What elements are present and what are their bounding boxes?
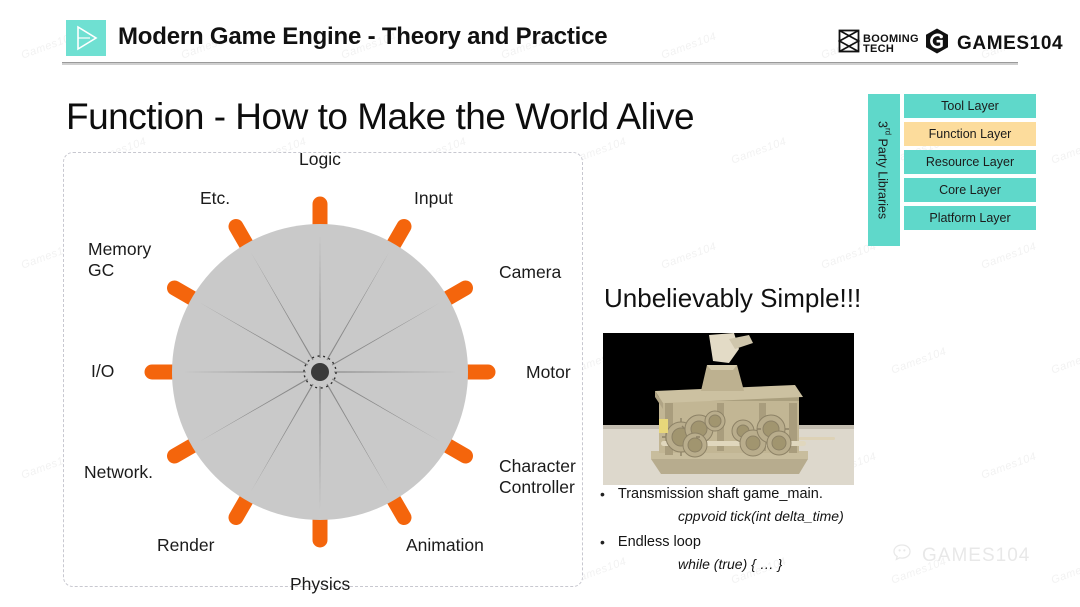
stack-side-label-sup: rd: [884, 128, 893, 135]
layer-resource-layer[interactable]: Resource Layer: [904, 150, 1036, 174]
booming-tech-logo: BOOMING TECH: [838, 29, 919, 58]
layer-label: Core Layer: [939, 183, 1001, 197]
background-watermark: Games104: [1050, 135, 1080, 166]
slide-title: Function - How to Make the World Alive: [66, 96, 694, 138]
cardboard-gear-machine-photo: [603, 333, 854, 485]
wheel-label-character-controller[interactable]: Character Controller: [499, 456, 576, 497]
layer-label: Resource Layer: [926, 155, 1014, 169]
layer-tool-layer[interactable]: Tool Layer: [904, 94, 1036, 118]
right-heading: Unbelievably Simple!!!: [604, 283, 861, 314]
architecture-layer-stack: 3rd Party Libraries Tool LayerFunction L…: [868, 94, 1036, 246]
background-watermark: Games104: [1050, 555, 1080, 586]
booming-label-line1: BOOMING: [863, 34, 919, 44]
layer-platform-layer[interactable]: Platform Layer: [904, 206, 1036, 230]
background-watermark: Games104: [980, 450, 1038, 481]
slide-header: Modern Game Engine - Theory and Practice…: [0, 0, 1080, 62]
stack-side-label-num: 3: [875, 121, 889, 128]
bullet-dot-icon: •: [600, 484, 605, 505]
list-item: •Endless loop: [600, 532, 930, 553]
background-watermark: Games104: [660, 240, 718, 271]
layer-function-layer[interactable]: Function Layer: [904, 122, 1036, 146]
wheel-label-memory-gc[interactable]: Memory GC: [88, 239, 151, 280]
games104-hex-g-icon: [925, 28, 949, 59]
bullet-list: •Transmission shaft game_main.cppvoid ti…: [600, 484, 930, 580]
booming-b-icon: [838, 29, 860, 58]
layer-core-layer[interactable]: Core Layer: [904, 178, 1036, 202]
function-wheel-panel: LogicInputCameraMotorCharacter Controlle…: [63, 152, 583, 587]
booming-label-line2: TECH: [863, 44, 919, 54]
games104-logo: GAMES104: [925, 28, 1063, 59]
play-triangle-icon: [66, 20, 106, 56]
third-party-libraries-bar: 3rd Party Libraries: [868, 94, 900, 246]
wechat-face-icon: [893, 543, 915, 568]
wheel-label-i-o[interactable]: I/O: [91, 361, 114, 382]
header-divider: [62, 62, 1018, 65]
function-wheel-diagram: LogicInputCameraMotorCharacter Controlle…: [64, 153, 582, 586]
wheel-label-motor[interactable]: Motor: [526, 362, 571, 383]
layer-label: Function Layer: [929, 127, 1012, 141]
wheel-label-input[interactable]: Input: [414, 188, 453, 209]
wheel-hub: [311, 363, 329, 381]
code-snippet: cppvoid tick(int delta_time): [678, 507, 930, 526]
bullet-dot-icon: •: [600, 532, 605, 553]
wheel-label-animation[interactable]: Animation: [406, 535, 484, 556]
wheel-label-logic[interactable]: Logic: [299, 149, 341, 170]
wheel-label-physics[interactable]: Physics: [290, 574, 350, 595]
wheel-label-camera[interactable]: Camera: [499, 262, 561, 283]
bullet-text: Endless loop: [618, 532, 701, 553]
background-watermark: Games104: [890, 345, 948, 376]
header-title: Modern Game Engine - Theory and Practice: [118, 23, 607, 51]
background-watermark: Games104: [1050, 345, 1080, 376]
stack-side-label-rest: Party Libraries: [875, 135, 889, 219]
wechat-watermark: GAMES104: [893, 543, 1030, 568]
wheel-label-network[interactable]: Network.: [84, 462, 153, 483]
layer-label: Tool Layer: [941, 99, 999, 113]
wheel-label-etc[interactable]: Etc.: [200, 188, 230, 209]
list-item: •Transmission shaft game_main.: [600, 484, 930, 505]
layer-label: Platform Layer: [929, 211, 1010, 225]
wheel-label-render[interactable]: Render: [157, 535, 214, 556]
bullet-text: Transmission shaft game_main.: [618, 484, 823, 505]
background-watermark: Games104: [730, 135, 788, 166]
games104-label: GAMES104: [957, 33, 1063, 55]
wechat-watermark-label: GAMES104: [922, 545, 1030, 567]
